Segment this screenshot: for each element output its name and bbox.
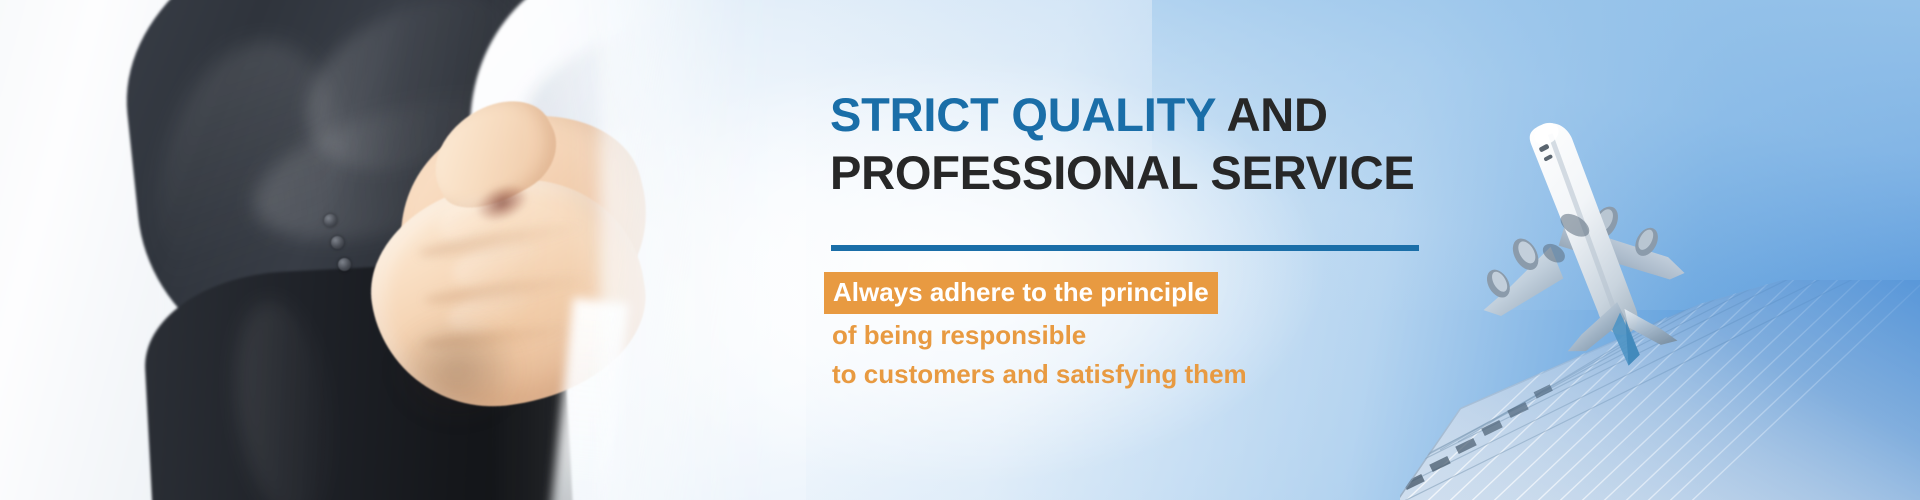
promo-banner: STRICT QUALITY AND PROFESSIONAL SERVICE … (0, 0, 1920, 500)
title-divider (831, 245, 1419, 251)
page-title: STRICT QUALITY AND PROFESSIONAL SERVICE (830, 86, 1530, 202)
subtitle-line-1: Always adhere to the principle (824, 272, 1218, 314)
handshake-photo (0, 0, 790, 500)
subtitle-line-3: to customers and satisfying them (830, 355, 1530, 394)
jacket-button (338, 258, 351, 271)
photo-right-fade (600, 0, 790, 500)
subtitle-block: Always adhere to the principle of being … (830, 272, 1530, 394)
subtitle-line-2: of being responsible (830, 316, 1530, 355)
headline-blue: STRICT QUALITY (830, 88, 1215, 141)
jacket-button (324, 214, 337, 227)
headline-and: AND (1215, 88, 1327, 141)
jacket-button (331, 236, 344, 249)
wrist-shadow (372, 300, 542, 440)
banner-content: STRICT QUALITY AND PROFESSIONAL SERVICE … (830, 0, 1530, 500)
headline-line2: PROFESSIONAL SERVICE (830, 144, 1530, 202)
